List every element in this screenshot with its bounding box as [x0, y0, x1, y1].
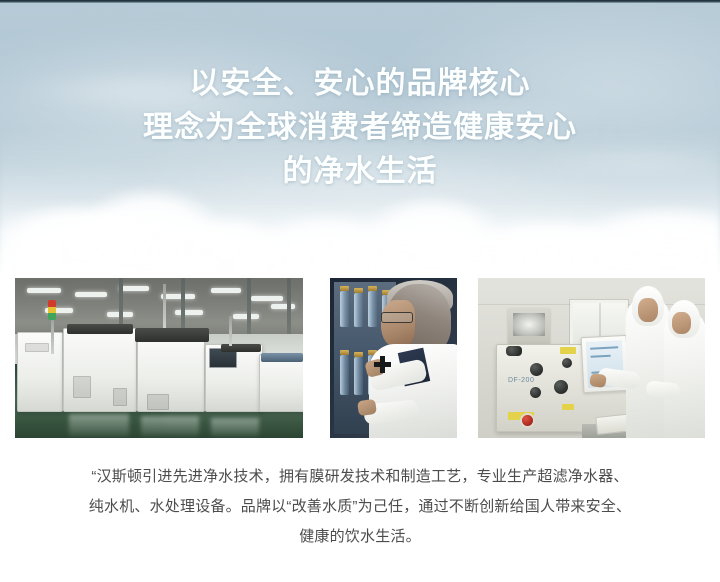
- ceiling-lamp: [233, 314, 259, 319]
- researcher-face: [381, 300, 415, 348]
- warning-label: [562, 404, 574, 410]
- machine-knob: [530, 363, 543, 376]
- ceiling-lamp: [27, 288, 61, 293]
- machine-panel: [147, 394, 169, 410]
- machine-brand-label: DF-200: [508, 377, 534, 384]
- glass-tube: [354, 293, 363, 327]
- ceiling-beam: [247, 278, 251, 340]
- cross-fitting-icon: [374, 356, 391, 373]
- photo-cleanroom-operators: DF-200: [478, 278, 705, 438]
- eyeglasses: [381, 312, 413, 323]
- brand-description: “汉斯顿引进先进净水技术，拥有膜研发技术和制造工艺，专业生产超滤净水器、 纯水机…: [0, 462, 720, 552]
- monitor-screen: [513, 313, 545, 336]
- warning-label: [560, 347, 576, 354]
- promo-page: 以安全、安心的品牌核心 理念为全球消费者缔造健康安心 的净水生活: [0, 0, 720, 582]
- machine-mast: [163, 284, 166, 328]
- floor-reflection: [141, 416, 199, 436]
- emergency-stop-button[interactable]: [522, 415, 533, 426]
- glass-tube: [368, 291, 377, 327]
- operator-hand: [589, 373, 607, 388]
- headline-line-3: 的净水生活: [0, 150, 720, 194]
- machine-panel: [25, 343, 49, 352]
- operator-face: [672, 312, 691, 334]
- tower-pole: [51, 316, 54, 354]
- photo-lab-researcher: [330, 278, 457, 438]
- ceiling-lamp: [271, 304, 295, 309]
- machine-knob: [554, 380, 568, 394]
- headline-line-2: 理念为全球消费者缔造健康安心: [0, 106, 720, 150]
- ceiling-lamp: [175, 310, 203, 315]
- glass-tube: [340, 291, 349, 327]
- floor-reflection: [211, 418, 259, 436]
- ceiling-lamp: [119, 286, 149, 291]
- machine-top-tray: [135, 328, 209, 342]
- photo-gallery: DF-200: [0, 278, 720, 438]
- machine-mast: [229, 316, 232, 346]
- glass-tube: [354, 357, 363, 395]
- ceiling-lamp: [75, 292, 107, 297]
- machine-panel: [113, 388, 127, 406]
- researcher-hand: [357, 399, 377, 416]
- top-divider-rule: [0, 0, 720, 3]
- caption-line-2: 纯水机、水处理设备。品牌以“改善水质”为己任，通过不断创新给国人带来安全、: [0, 492, 720, 522]
- ceiling-lamp: [161, 294, 195, 299]
- machine-top-cover: [67, 324, 133, 334]
- crt-monitor: [508, 308, 550, 344]
- machine-handle: [506, 346, 522, 356]
- ceiling-lamp: [251, 296, 283, 301]
- reflow-oven: [259, 354, 303, 412]
- ceiling-lamp: [211, 288, 241, 293]
- caption-line-1: “汉斯顿引进先进净水技术，拥有膜研发技术和制造工艺，专业生产超滤净水器、: [0, 462, 720, 492]
- machine-top-cover: [221, 344, 261, 352]
- operator-face: [638, 298, 658, 322]
- machine-panel: [73, 376, 91, 398]
- oven-hood: [261, 353, 303, 362]
- photo-factory-production-line: [15, 278, 303, 438]
- ceiling-beam: [287, 278, 291, 340]
- machine-knob: [530, 387, 541, 398]
- floor-reflection: [69, 414, 129, 436]
- glass-tube: [340, 355, 349, 395]
- headline-line-1: 以安全、安心的品牌核心: [0, 62, 720, 106]
- machine-knob: [562, 358, 572, 368]
- hero-headline: 以安全、安心的品牌核心 理念为全球消费者缔造健康安心 的净水生活: [0, 62, 720, 194]
- signal-tower-light: [48, 300, 56, 320]
- caption-line-3: 健康的饮水生活。: [0, 522, 720, 552]
